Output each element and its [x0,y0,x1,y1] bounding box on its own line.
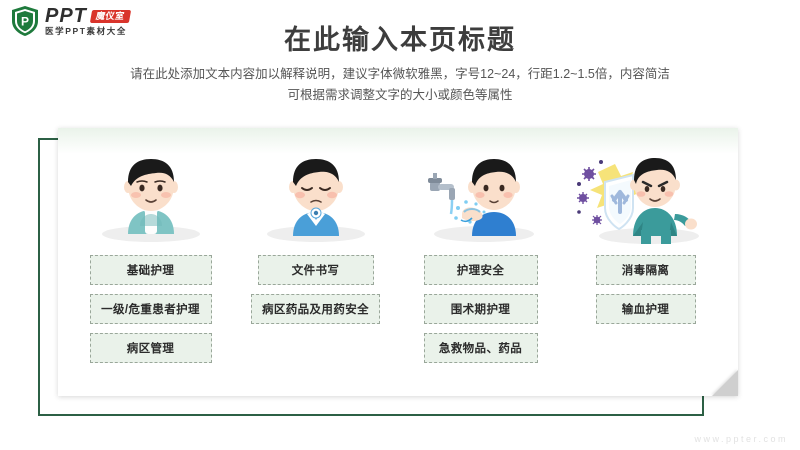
chip-item[interactable]: 病区管理 [90,333,212,363]
column-basic-nursing: 基础护理 一级/危重患者护理 病区管理 [68,142,233,396]
chip-group: 文件书写 病区药品及用药安全 [233,255,398,324]
page-subtitle: 请在此处添加文本内容加以解释说明，建议字体微软雅黑，字号12~24，行距1.2~… [0,64,800,105]
chip-item[interactable]: 急救物品、药品 [424,333,538,363]
site-watermark: www.ppter.com [694,434,788,444]
chip-group: 基础护理 一级/危重患者护理 病区管理 [68,255,233,363]
chip-item[interactable]: 护理安全 [424,255,538,285]
chip-item[interactable]: 病区药品及用药安全 [251,294,380,324]
columns-container: 基础护理 一级/危重患者护理 病区管理 [58,128,738,396]
page-title: 在此输入本页标题 [0,18,800,57]
subtitle-line-2: 可根据需求调整文字的大小或颜色等属性 [0,85,800,106]
subtitle-line-1: 请在此处添加文本内容加以解释说明，建议字体微软雅黑，字号12~24，行距1.2~… [0,64,800,85]
person-sore-throat-icon [241,142,391,246]
chip-item[interactable]: 围术期护理 [424,294,538,324]
column-disinfection: 消毒隔离 输血护理 [563,142,728,396]
person-with-tissue-icon [76,142,226,246]
chip-group: 消毒隔离 输血护理 [563,255,728,324]
chip-item[interactable]: 基础护理 [90,255,212,285]
chip-item[interactable]: 消毒隔离 [596,255,696,285]
content-card-wrapper: 基础护理 一级/危重患者护理 病区管理 [38,128,760,416]
chip-group: 护理安全 围术期护理 急救物品、药品 [398,255,563,363]
column-nursing-safety: 护理安全 围术期护理 急救物品、药品 [398,142,563,396]
chip-item[interactable]: 一级/危重患者护理 [90,294,212,324]
handwashing-faucet-icon [406,142,556,246]
chip-item[interactable]: 输血护理 [596,294,696,324]
antibody-shield-defense-icon [571,142,721,246]
chip-item[interactable]: 文件书写 [258,255,374,285]
column-documentation: 文件书写 病区药品及用药安全 [233,142,398,396]
